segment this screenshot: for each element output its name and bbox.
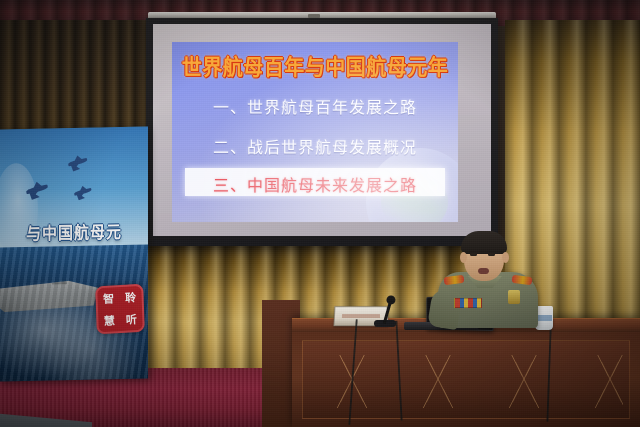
mouth [478, 268, 489, 274]
seal-char-4: 听 [126, 314, 137, 326]
projection-screen-frame: 世界航母百年与中国航母元年 一、世界航母百年发展之路 二、战后世界航母发展概况 … [146, 18, 498, 246]
ear-left [460, 252, 467, 263]
presentation-slide: 世界航母百年与中国航母元年 一、世界航母百年发展之路 二、战后世界航母发展概况 … [172, 42, 458, 222]
banner-headline: 与中国航母元 [0, 219, 148, 246]
aircraft-carrier-icon [0, 277, 98, 313]
ear-right [502, 252, 509, 263]
slide-bullet-3-highlight-box: 三、中国航母未来发展之路 [185, 168, 445, 196]
speaker-officer [432, 232, 544, 324]
standing-banner: 与中国航母元 智 聆 慧 听 [0, 126, 148, 381]
uniform-badge [508, 290, 520, 304]
eye-right [488, 253, 495, 256]
seal-char-3: 慧 [104, 315, 115, 327]
red-seal-stamp: 智 聆 慧 听 [95, 284, 145, 335]
slide-bullet-2: 二、战后世界航母发展概况 [172, 134, 458, 158]
seal-char-2: 聆 [125, 292, 136, 304]
slide-title: 世界航母百年与中国航母元年 [172, 49, 458, 81]
hair [461, 231, 507, 254]
podium-desk [292, 318, 640, 427]
slide-bullet-1: 一、世界航母百年发展之路 [172, 94, 458, 118]
medal-ribbons [454, 298, 482, 308]
projection-screen-surface: 世界航母百年与中国航母元年 一、世界航母百年发展之路 二、战后世界航母发展概况 … [153, 24, 491, 236]
left-arm [427, 288, 463, 330]
seal-char-1: 智 [103, 293, 114, 305]
cable [395, 319, 426, 420]
lecture-hall-photo: 世界航母百年与中国航母元年 一、世界航母百年发展之路 二、战后世界航母发展概况 … [0, 0, 640, 427]
eye-left [470, 253, 477, 256]
slide-bullet-3: 三、中国航母未来发展之路 [185, 172, 445, 196]
